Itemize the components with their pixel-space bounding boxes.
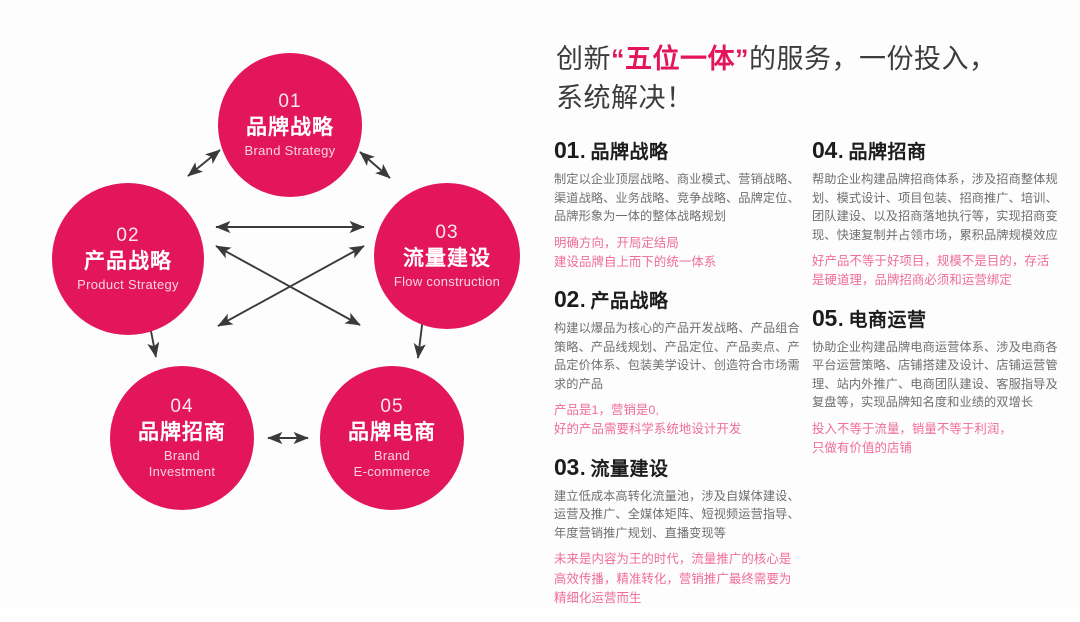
diagram-node-01[interactable]: 01 品牌战略 Brand Strategy xyxy=(218,53,362,197)
node-title-en-line1: Brand xyxy=(374,448,410,464)
block-02: 02 . 产品战略 构建以爆品为核心的产品开发战略、产品组合策略、产品线规划、产… xyxy=(554,286,800,440)
block-title: 品牌招商 xyxy=(849,137,927,164)
node-number: 02 xyxy=(116,225,139,247)
node-title-cn: 品牌电商 xyxy=(348,421,436,445)
headline-highlight: “五位一体” xyxy=(611,44,749,74)
headline-part1: 创新 xyxy=(556,44,611,74)
node-title-en: Brand Strategy xyxy=(245,143,336,159)
content-columns: 01 . 品牌战略 制定以企业顶层战略、商业模式、营销战略、渠道战略、业务战略、… xyxy=(554,137,1070,622)
slide-root: 01 品牌战略 Brand Strategy 02 产品战略 Product S… xyxy=(0,0,1080,607)
content-panel: 创新“五位一体”的服务，一份投入， 系统解决！ 01 . 品牌战略 制定以企业顶… xyxy=(540,0,1080,607)
block-04: 04 . 品牌招商 帮助企业构建品牌招商体系，涉及招商整体规划、模式设计、项目包… xyxy=(812,137,1058,291)
block-title: 产品战略 xyxy=(591,286,669,313)
block-heading: 03 . 流量建设 xyxy=(554,454,800,481)
block-number: 05 xyxy=(812,305,837,332)
block-01: 01 . 品牌战略 制定以企业顶层战略、商业模式、营销战略、渠道战略、业务战略、… xyxy=(554,137,800,272)
block-number: 04 xyxy=(812,137,837,164)
block-note: 投入不等于流量，销量不等于利润， 只做有价值的店铺 xyxy=(812,420,1058,458)
node-title-cn: 产品战略 xyxy=(84,250,172,274)
node-title-en-line2: E-commerce xyxy=(354,464,431,480)
block-title: 流量建设 xyxy=(591,454,669,481)
node-number: 03 xyxy=(435,222,458,244)
node-title-en-line1: Brand xyxy=(164,448,200,464)
block-03: 03 . 流量建设 建立低成本高转化流量池，涉及自媒体建设、运营及推广、全媒体矩… xyxy=(554,454,800,608)
node-title-cn: 品牌战略 xyxy=(246,116,334,140)
block-note: 好产品不等于好项目，规模不是目的，存活是硬道理，品牌招商必须和运营绑定 xyxy=(812,252,1058,290)
diagram-node-05[interactable]: 05 品牌电商 Brand E-commerce xyxy=(320,366,464,510)
block-body: 构建以爆品为核心的产品开发战略、产品组合策略、产品线规划、产品定位、产品卖点、产… xyxy=(554,319,800,393)
node-title-cn: 品牌招商 xyxy=(138,421,226,445)
column-left: 01 . 品牌战略 制定以企业顶层战略、商业模式、营销战略、渠道战略、业务战略、… xyxy=(554,137,800,622)
node-number: 01 xyxy=(278,91,301,113)
column-right: 04 . 品牌招商 帮助企业构建品牌招商体系，涉及招商整体规划、模式设计、项目包… xyxy=(812,137,1058,622)
headline-part2: 的服务，一份投入， xyxy=(749,44,997,74)
diagram-node-03[interactable]: 03 流量建设 Flow construction xyxy=(374,183,520,329)
block-dot: . xyxy=(838,141,844,164)
block-note: 未来是内容为王的时代，流量推广的核心是高效传播，精准转化，营销推广最终需要为精细… xyxy=(554,550,800,608)
connector-03-04 xyxy=(218,246,364,326)
node-number: 05 xyxy=(380,396,403,418)
diagram-node-02[interactable]: 02 产品战略 Product Strategy xyxy=(52,183,204,335)
node-title-en: Flow construction xyxy=(394,274,500,290)
block-dot: . xyxy=(580,458,586,481)
connector-02-05 xyxy=(216,246,360,325)
block-05: 05 . 电商运营 协助企业构建品牌电商运营体系、涉及电商各平台运营策略、店铺搭… xyxy=(812,305,1058,459)
block-dot: . xyxy=(838,309,844,332)
connector-01-03 xyxy=(360,152,390,178)
connector-02-01 xyxy=(188,150,220,176)
block-dot: . xyxy=(580,141,586,164)
node-title-en-line2: Investment xyxy=(149,464,216,480)
block-body: 帮助企业构建品牌招商体系，涉及招商整体规划、模式设计、项目包装、招商推广、培训、… xyxy=(812,170,1058,244)
block-body: 制定以企业顶层战略、商业模式、营销战略、渠道战略、业务战略、竞争战略、品牌定位、… xyxy=(554,170,800,226)
block-note: 产品是1，营销是0, 好的产品需要科学系统地设计开发 xyxy=(554,401,800,439)
headline-line2: 系统解决！ xyxy=(556,83,694,113)
node-number: 04 xyxy=(170,396,193,418)
block-heading: 02 . 产品战略 xyxy=(554,286,800,313)
node-title-en: Product Strategy xyxy=(77,277,179,293)
block-number: 03 xyxy=(554,454,579,481)
block-title: 品牌战略 xyxy=(591,137,669,164)
block-heading: 04 . 品牌招商 xyxy=(812,137,1058,164)
five-in-one-diagram: 01 品牌战略 Brand Strategy 02 产品战略 Product S… xyxy=(0,0,540,607)
block-heading: 05 . 电商运营 xyxy=(812,305,1058,332)
block-note: 明确方向，开局定结局 建设品牌自上而下的统一体系 xyxy=(554,234,800,272)
block-heading: 01 . 品牌战略 xyxy=(554,137,800,164)
block-body: 协助企业构建品牌电商运营体系、涉及电商各平台运营策略、店铺搭建及设计、店铺运营管… xyxy=(812,338,1058,412)
block-body: 建立低成本高转化流量池，涉及自媒体建设、运营及推广、全媒体矩阵、短视频运营指导、… xyxy=(554,487,800,543)
block-dot: . xyxy=(580,290,586,313)
block-number: 02 xyxy=(554,286,579,313)
node-title-cn: 流量建设 xyxy=(403,247,491,271)
diagram-node-04[interactable]: 04 品牌招商 Brand Investment xyxy=(110,366,254,510)
block-title: 电商运营 xyxy=(849,305,927,332)
headline: 创新“五位一体”的服务，一份投入， 系统解决！ xyxy=(556,40,1056,118)
block-number: 01 xyxy=(554,137,579,164)
